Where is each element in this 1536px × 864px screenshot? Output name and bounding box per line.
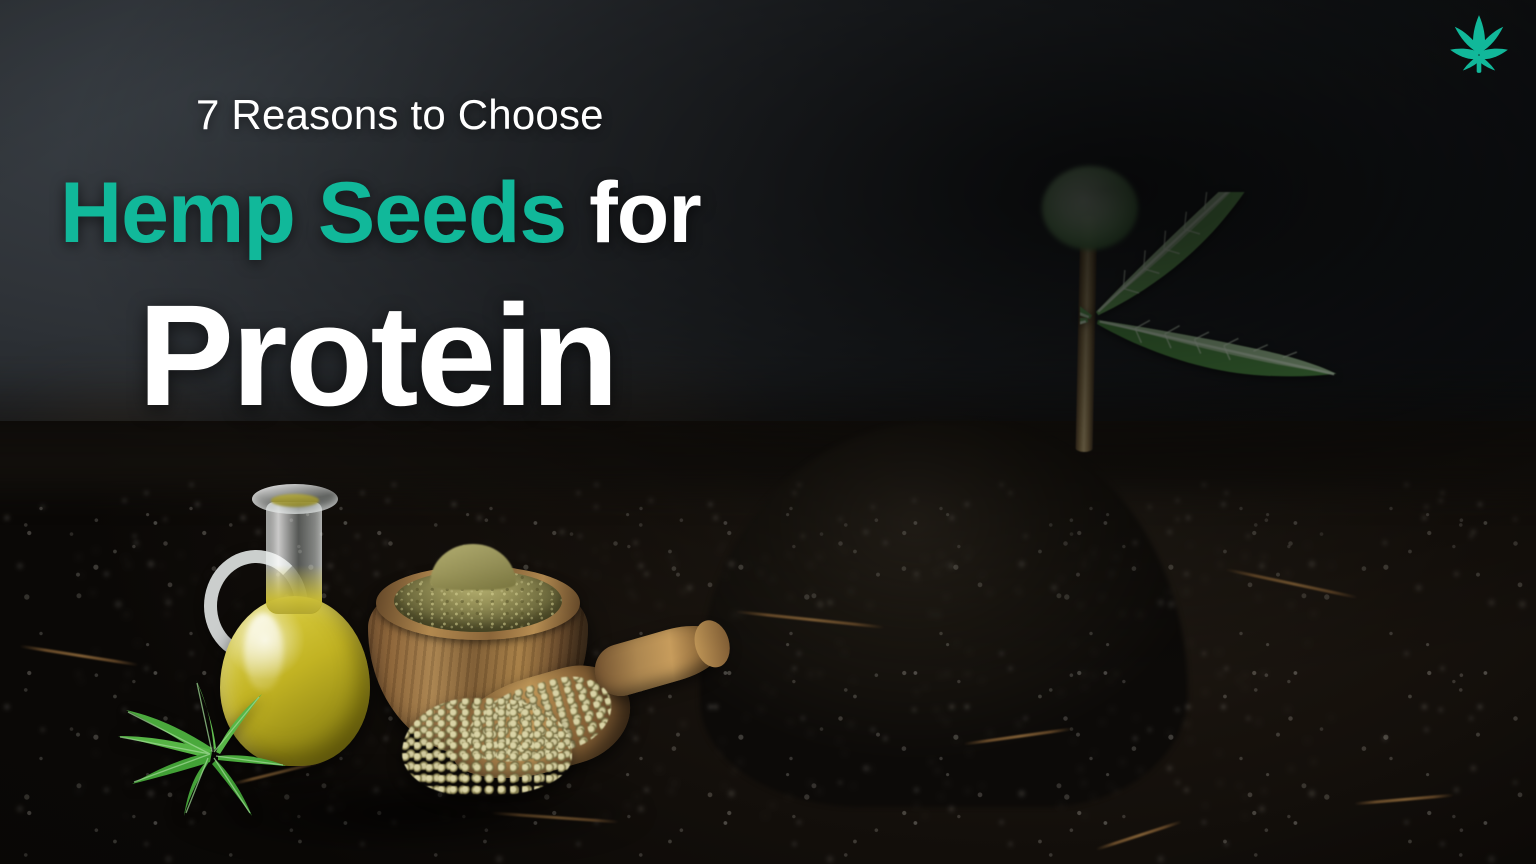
headline-line-2-rest: for — [566, 165, 701, 261]
headline-line-3: Protein — [138, 284, 617, 428]
hemp-leaf-icon[interactable] — [1450, 14, 1508, 74]
headline-line-2: Hemp Seeds for — [60, 170, 701, 256]
hero-banner: 7 Reasons to Choose Hemp Seeds for Prote… — [0, 0, 1536, 864]
eyebrow-text: 7 Reasons to Choose — [196, 94, 604, 136]
headline-highlight: Hemp Seeds — [60, 165, 566, 261]
